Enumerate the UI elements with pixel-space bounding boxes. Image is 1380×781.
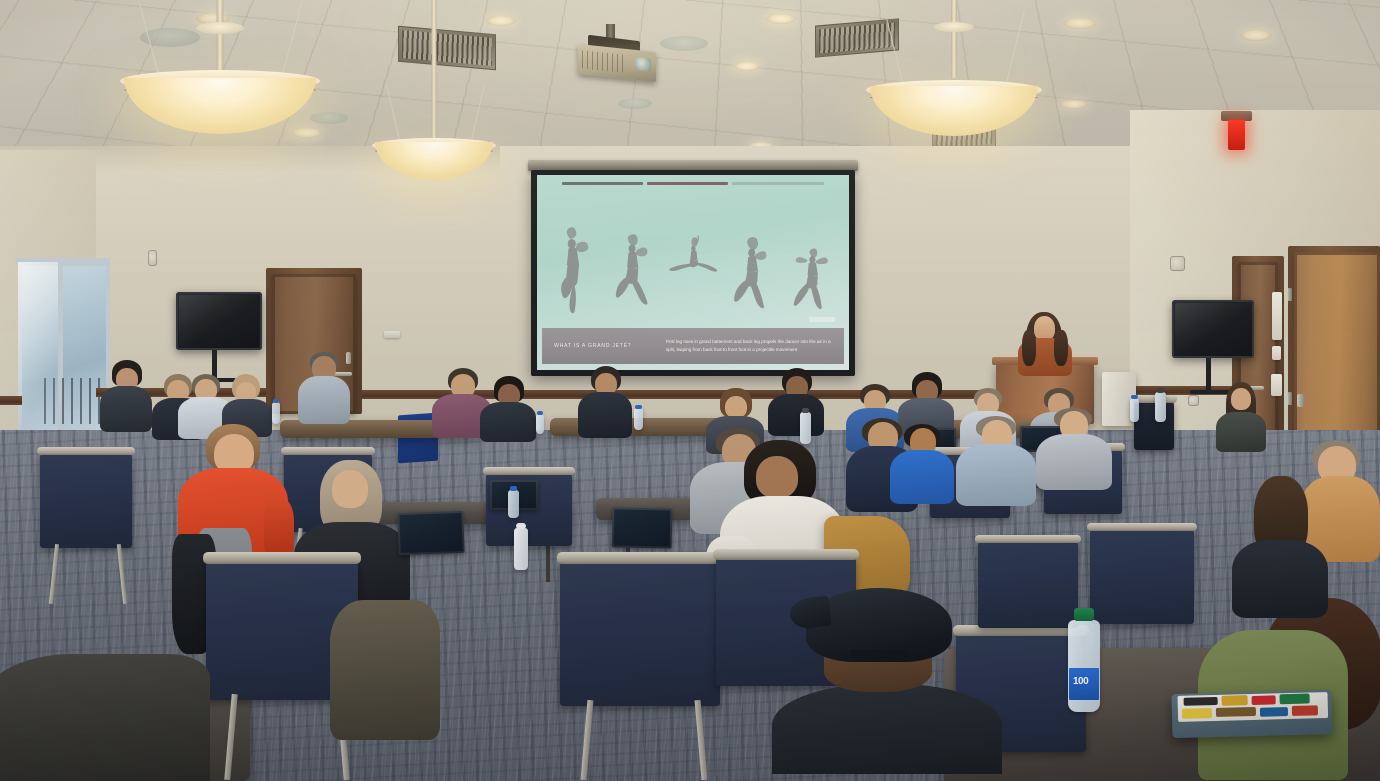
bottle-label-text: 100 bbox=[1073, 676, 1088, 687]
audience-member bbox=[578, 366, 632, 436]
dancer-pose-4 bbox=[728, 205, 777, 317]
sticker bbox=[1252, 695, 1276, 705]
progress-segment-3 bbox=[732, 182, 824, 185]
foreground-draped-coat bbox=[0, 654, 210, 781]
water-bottle[interactable] bbox=[634, 408, 643, 430]
audience-member-light-blue bbox=[956, 416, 1036, 504]
banquet-chair[interactable] bbox=[40, 452, 132, 548]
audience-member bbox=[480, 376, 536, 438]
water-bottle-foreground[interactable]: 100 bbox=[1068, 620, 1100, 712]
bottle-cap bbox=[1074, 608, 1094, 621]
sticker bbox=[1279, 693, 1309, 704]
wall-speaker bbox=[1170, 256, 1185, 271]
thermostat[interactable] bbox=[1271, 374, 1282, 396]
sticker bbox=[1260, 707, 1288, 717]
slide-caption-body: First leg rises in grand battement and b… bbox=[666, 338, 844, 353]
pendant-light-left bbox=[120, 0, 320, 130]
audience-member-cap bbox=[806, 588, 952, 708]
shoulders bbox=[772, 684, 1002, 774]
wall-monitor-right[interactable] bbox=[1172, 300, 1254, 358]
cap-strap bbox=[850, 650, 908, 658]
room-sign-plaque bbox=[384, 331, 400, 338]
banquet-chair[interactable] bbox=[1090, 528, 1194, 624]
sticker bbox=[1182, 708, 1212, 719]
audience-member bbox=[296, 352, 352, 422]
water-bottle[interactable] bbox=[1130, 398, 1139, 422]
door-hinge bbox=[1288, 288, 1292, 301]
door-handle[interactable] bbox=[1297, 394, 1304, 407]
light-switch-panel[interactable] bbox=[1272, 292, 1282, 340]
slide-progress-bars bbox=[562, 182, 824, 185]
projection-screen: WHAT IS A GRAND JETÉ? First leg rises in… bbox=[531, 170, 855, 376]
water-bottle[interactable] bbox=[508, 490, 519, 518]
water-bottle[interactable] bbox=[536, 414, 544, 434]
chair-rail bbox=[0, 396, 22, 405]
pendant-light-right bbox=[866, 10, 1042, 134]
light-switch[interactable] bbox=[1272, 346, 1281, 360]
audience-member-ponytail bbox=[1232, 476, 1328, 616]
door-far-right[interactable] bbox=[1294, 252, 1380, 452]
wall-sconce bbox=[148, 250, 157, 266]
presentation-slide: WHAT IS A GRAND JETÉ? First leg rises in… bbox=[537, 175, 849, 370]
sticker bbox=[1292, 705, 1318, 716]
wall-monitor-left[interactable] bbox=[176, 292, 262, 350]
banquet-chair[interactable] bbox=[978, 540, 1078, 628]
monitor-stand bbox=[1206, 358, 1211, 392]
sticker-covered-laptop[interactable] bbox=[1171, 690, 1332, 738]
dancer-pose-1 bbox=[549, 205, 598, 317]
dancer-pose-5 bbox=[788, 205, 837, 317]
dancer-pose-3 bbox=[669, 205, 718, 317]
banquet-chair[interactable] bbox=[560, 560, 720, 706]
slide-watermark bbox=[809, 317, 835, 322]
laptop[interactable] bbox=[397, 511, 464, 555]
glass-glare bbox=[18, 262, 58, 440]
sticker bbox=[1184, 697, 1218, 706]
progress-segment-2 bbox=[647, 182, 728, 185]
slide-caption-title: WHAT IS A GRAND JETÉ? bbox=[542, 343, 666, 349]
foreground-bag bbox=[330, 600, 440, 740]
audience-member-gray-polo bbox=[1036, 408, 1112, 488]
presenter bbox=[1010, 312, 1080, 372]
wall-speaker bbox=[1188, 395, 1199, 406]
dancer-sequence-photo bbox=[549, 205, 836, 317]
door-hinge bbox=[1288, 392, 1292, 405]
audience-member bbox=[100, 360, 152, 430]
audience-member bbox=[1216, 382, 1266, 452]
audience-member bbox=[768, 368, 824, 434]
sticker-surface bbox=[1178, 692, 1329, 722]
progress-segment-1 bbox=[562, 182, 643, 185]
conference-room-photo: WHAT IS A GRAND JETÉ? First leg rises in… bbox=[0, 0, 1380, 781]
dancer-pose-2 bbox=[609, 205, 658, 317]
sticker bbox=[1216, 707, 1256, 717]
laptop[interactable] bbox=[612, 507, 673, 548]
insulated-bottle[interactable] bbox=[1155, 392, 1166, 422]
audience-member-blue-shirt bbox=[890, 424, 954, 502]
empty-chair[interactable] bbox=[1134, 400, 1174, 450]
exit-sign bbox=[1228, 120, 1245, 150]
slide-caption-bar: WHAT IS A GRAND JETÉ? First leg rises in… bbox=[542, 328, 844, 364]
sticker bbox=[1222, 695, 1248, 706]
water-bottle[interactable] bbox=[272, 402, 280, 424]
pendant-light-center bbox=[372, 84, 496, 180]
tumbler[interactable] bbox=[514, 528, 528, 570]
